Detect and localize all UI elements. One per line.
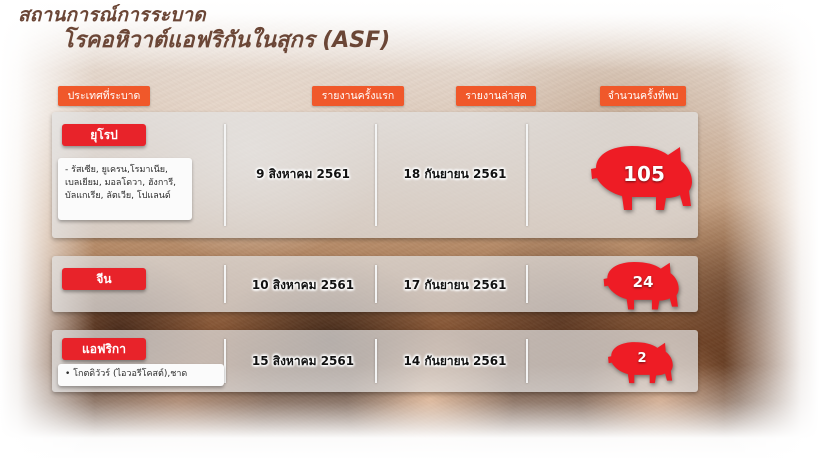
- latest-report-date-africa: 14 กันยายน 2561: [385, 352, 525, 371]
- row-divider: [224, 265, 226, 303]
- row-divider: [375, 124, 377, 226]
- title-line-2: โรคอหิวาต์แอฟริกันในสุกร (ASF): [62, 27, 390, 54]
- latest-report-date-china: 17 กันยายน 2561: [385, 276, 525, 295]
- count-value-europe: 105: [588, 162, 700, 186]
- country-list-line: บัลแกเรีย, ลัตเวีย, โปแลนด์: [65, 190, 185, 203]
- row-divider: [375, 265, 377, 303]
- first-report-date-china: 10 สิงหาคม 2561: [233, 276, 373, 295]
- first-report-date-africa: 15 สิงหาคม 2561: [233, 352, 373, 371]
- country-list-africa: • โกตดิวัวร์ (ไอวอรีโคสต์),ชาด: [58, 364, 224, 386]
- row-divider: [224, 339, 226, 383]
- country-list-europe: - รัสเซีย, ยูเครน,โรมาเนีย, เบลเยียม, มอ…: [58, 158, 192, 220]
- pig-count-europe: 105: [588, 138, 700, 216]
- infographic-canvas: สถานการณ์การระบาด โรคอหิวาต์แอฟริกันในสุ…: [0, 0, 819, 460]
- count-value-africa: 2: [604, 351, 680, 366]
- column-header-country: ประเทศที่ระบาด: [58, 86, 150, 106]
- pig-count-china: 24: [597, 256, 689, 314]
- row-divider: [224, 124, 226, 226]
- column-header-count: จำนวนครั้งที่พบ: [600, 86, 686, 106]
- pig-count-africa: 2: [604, 337, 680, 387]
- country-list-line: - รัสเซีย, ยูเครน,โรมาเนีย,: [65, 164, 185, 177]
- row-divider: [526, 265, 528, 303]
- country-list-line: เบลเยียม, มอลโดวา, ฮังการี,: [65, 177, 185, 190]
- region-badge-africa: แอฟริกา: [62, 338, 146, 360]
- latest-report-date-europe: 18 กันยายน 2561: [385, 165, 525, 184]
- title-line-1: สถานการณ์การระบาด: [18, 4, 390, 27]
- row-divider: [526, 339, 528, 383]
- first-report-date-europe: 9 สิงหาคม 2561: [233, 165, 373, 184]
- region-badge-china: จีน: [62, 268, 146, 290]
- count-value-china: 24: [597, 273, 689, 291]
- region-badge-europe: ยุโรป: [62, 124, 146, 146]
- column-header-latest-report: รายงานล่าสุด: [456, 86, 536, 106]
- row-divider: [526, 124, 528, 226]
- country-list-line: • โกตดิวัวร์ (ไอวอรีโคสต์),ชาด: [65, 368, 217, 381]
- page-title: สถานการณ์การระบาด โรคอหิวาต์แอฟริกันในสุ…: [18, 4, 390, 54]
- row-divider: [375, 339, 377, 383]
- column-header-first-report: รายงานครั้งแรก: [312, 86, 404, 106]
